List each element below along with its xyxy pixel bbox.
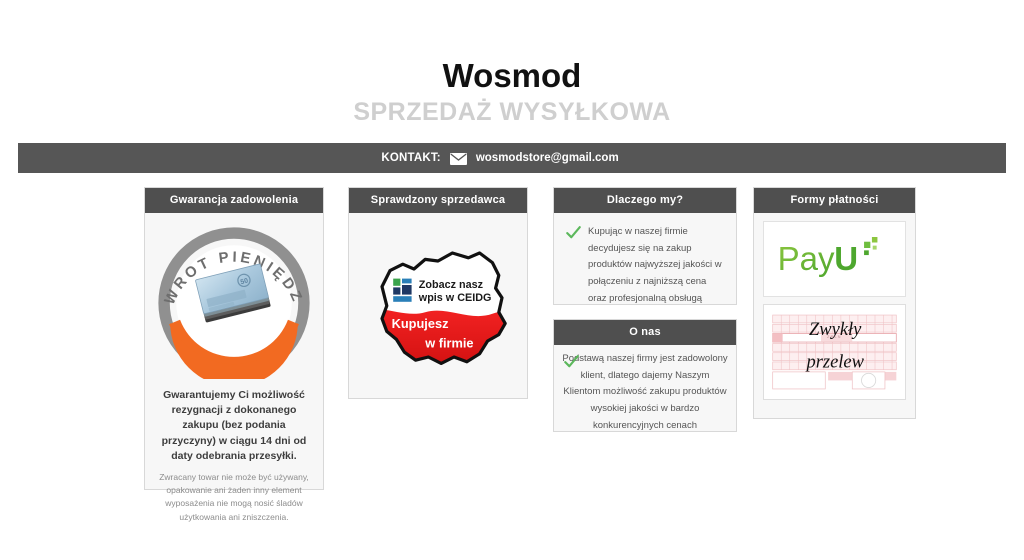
card-payment-body: Pay U [754, 213, 915, 410]
svg-text:przelew: przelew [804, 352, 864, 372]
card-verified-seller: Sprawdzony sprzedawca [348, 187, 528, 399]
svg-text:Pay: Pay [777, 240, 834, 277]
envelope-icon [450, 152, 467, 164]
why-text: Kupując w naszej firmie decydujesz się n… [588, 224, 723, 307]
page-subtitle: SPRZEDAŻ WYSYŁKOWA [0, 98, 1024, 127]
card-guarantee-heading: Gwarancja zadowolenia [145, 188, 323, 213]
svg-text:U: U [834, 240, 858, 277]
why-bullet: Kupując w naszej firmie decydujesz się n… [563, 221, 727, 307]
card-why-body: Kupując w naszej firmie decydujesz się n… [554, 213, 736, 317]
guarantee-main-text: Gwarantujemy Ci możliwość rezygnacji z d… [154, 388, 314, 464]
svg-text:w firmie: w firmie [424, 335, 473, 350]
contact-bar-content: KONTAKT: wosmodstore@gmail.com [381, 152, 618, 164]
poland-map-icon[interactable]: Zobacz nasz wpis w CEIDG Kupujesz w firm… [358, 225, 518, 393]
payu-logo[interactable]: Pay U [763, 221, 906, 297]
svg-text:wpis w CEIDG: wpis w CEIDG [418, 292, 492, 304]
card-guarantee: Gwarancja zadowolenia [144, 187, 324, 490]
contact-label: KONTAKT: [381, 152, 441, 164]
svg-text:Zwykły: Zwykły [809, 319, 862, 339]
contact-bar: KONTAKT: wosmodstore@gmail.com [18, 143, 1006, 173]
card-about-us: O nas Podstawą naszej firmy jest zadowol… [553, 319, 737, 432]
card-payment-heading: Formy płatności [754, 188, 915, 213]
svg-text:Kupujesz: Kupujesz [392, 316, 449, 331]
contact-email[interactable]: wosmodstore@gmail.com [476, 152, 619, 164]
money-back-badge: ZWROT PIENIĘDZY 50 [158, 227, 310, 379]
card-guarantee-body: ZWROT PIENIĘDZY 50 [145, 213, 323, 534]
cards-area: Gwarancja zadowolenia [0, 187, 1024, 517]
bank-transfer-form-image[interactable]: ZPLN Zwykły przelew [763, 304, 906, 400]
card-why-heading: Dlaczego my? [554, 188, 736, 213]
green-check-icon [566, 225, 581, 240]
card-payment-methods: Formy płatności Pay U [753, 187, 916, 419]
card-seller-body: Zobacz nasz wpis w CEIDG Kupujesz w firm… [349, 213, 527, 403]
card-why-us: Dlaczego my? Kupując w naszej firmie dec… [553, 187, 737, 305]
card-seller-heading: Sprawdzony sprzedawca [349, 188, 527, 213]
svg-text:Zobacz nasz: Zobacz nasz [419, 279, 484, 291]
card-about-heading: O nas [554, 320, 736, 345]
about-text: Podstawą naszej firmy jest zadowolony kl… [561, 351, 729, 434]
page-title: Wosmod [0, 58, 1024, 94]
page-header: Wosmod SPRZEDAŻ WYSYŁKOWA [0, 0, 1024, 127]
green-check-icon [564, 354, 579, 369]
guarantee-sub-text: Zwracany towar nie może być używany, opa… [154, 471, 314, 524]
card-about-body: Podstawą naszej firmy jest zadowolony kl… [554, 345, 736, 442]
